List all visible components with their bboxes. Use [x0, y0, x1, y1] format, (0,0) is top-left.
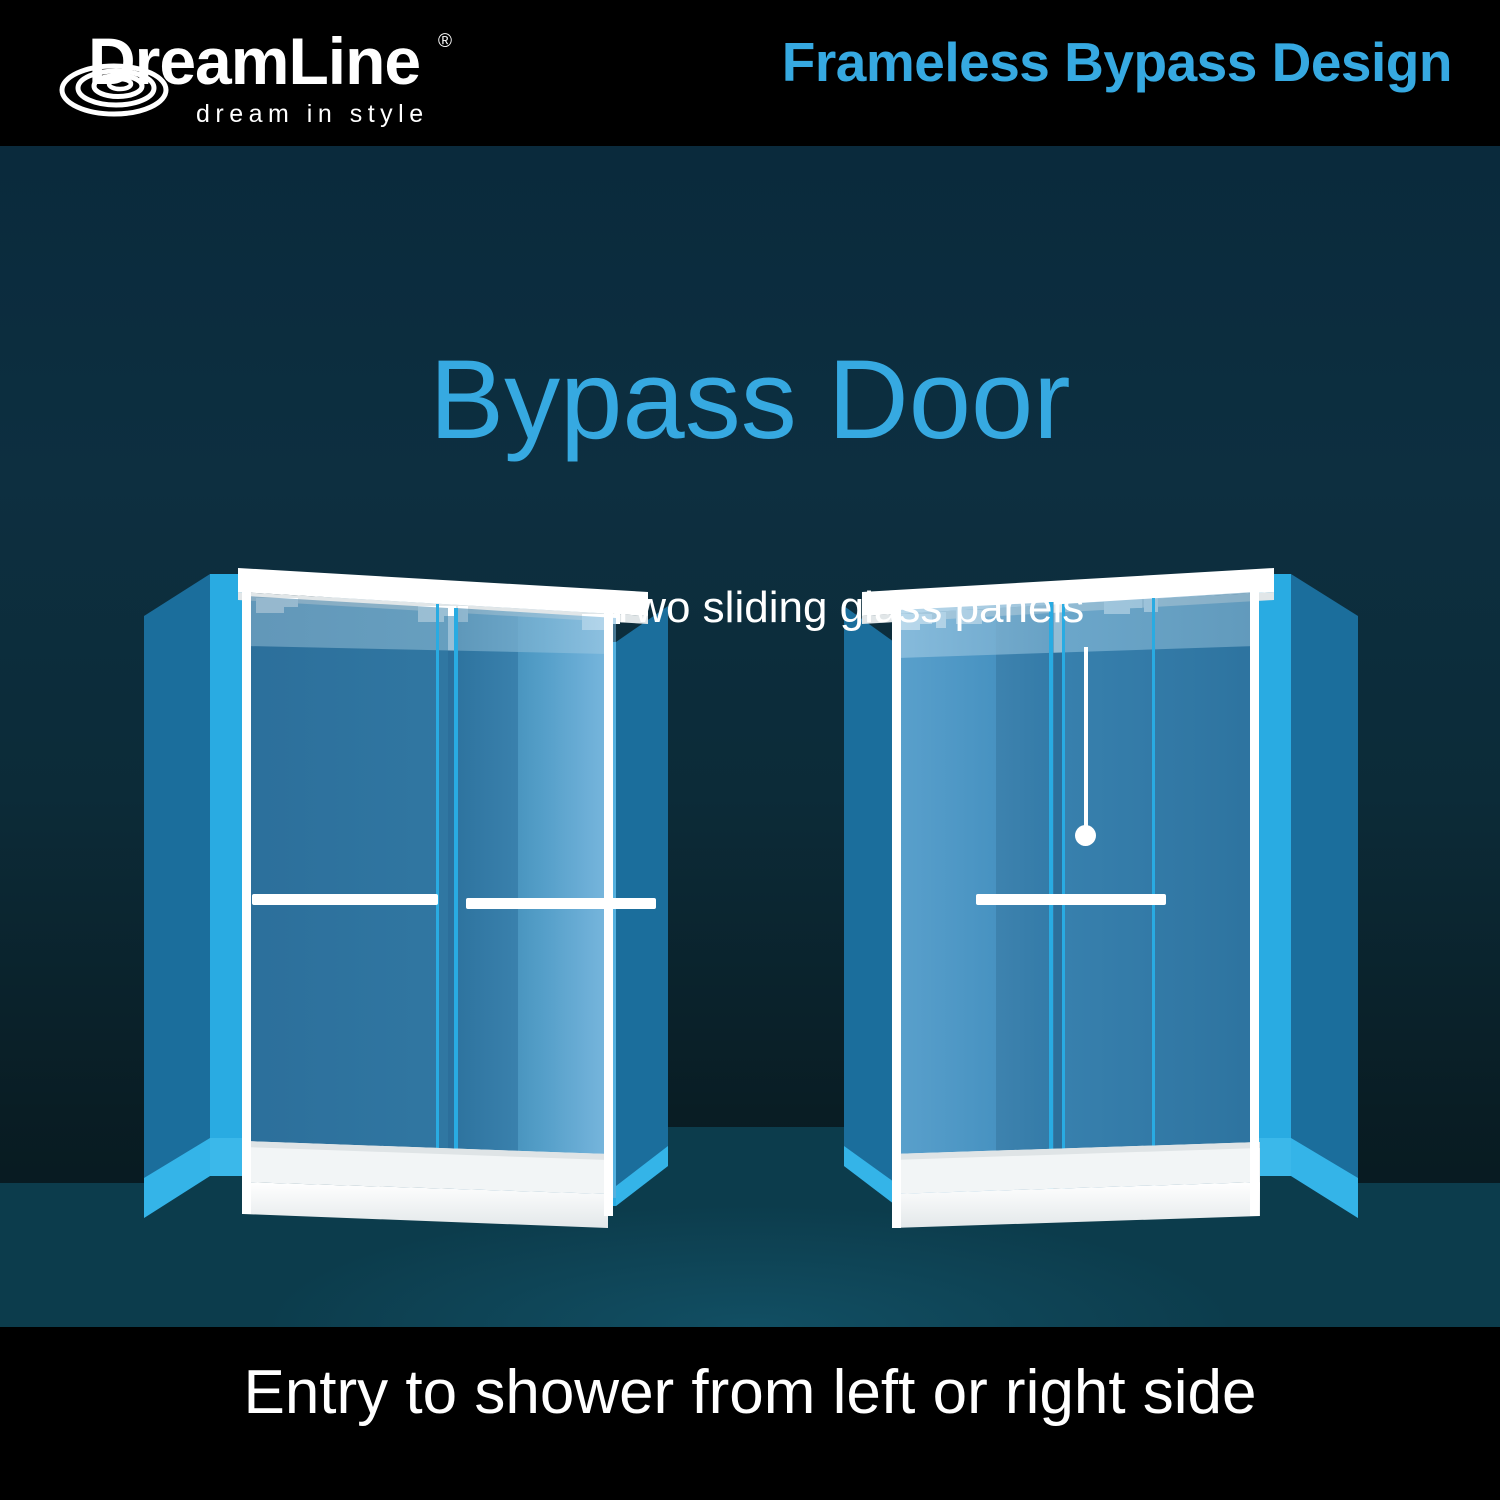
shower-enclosure-right [836, 546, 1366, 1266]
footer-caption: Entry to shower from left or right side [0, 1357, 1500, 1428]
dreamline-logo: DreamLine ® dream in style [48, 14, 468, 132]
product-infographic: DreamLine ® dream in style Frameless Byp… [0, 0, 1500, 1500]
brand-slogan: dream in style [196, 100, 429, 128]
illustration-stage: Bypass Door Two sliding glass panels [0, 146, 1500, 1327]
dreamline-logo-graphic: DreamLine ® dream in style [48, 14, 468, 132]
callout-leader-line [1084, 647, 1088, 837]
glass-panel-front [1062, 592, 1254, 1192]
footer-bar: Entry to shower from left or right side [0, 1327, 1500, 1500]
callout-label: Two sliding glass panels [0, 583, 1500, 633]
header-tagline: Frameless Bypass Design [782, 30, 1452, 94]
door-handle [976, 894, 1166, 905]
left-side-wall [144, 574, 243, 1218]
registered-trademark-icon: ® [438, 31, 452, 52]
shower-base [243, 1141, 608, 1228]
shower-base [892, 1142, 1260, 1228]
brand-name: DreamLine [88, 24, 420, 98]
callout-label-text: Two sliding glass panels [610, 583, 1084, 632]
door-handle-right [466, 898, 656, 909]
header-bar: DreamLine ® dream in style Frameless Byp… [0, 0, 1500, 146]
door-handle-left [252, 894, 438, 905]
right-side-wall [1256, 574, 1358, 1218]
glass-panel-front [246, 596, 448, 1186]
shower-enclosure-left [138, 546, 698, 1266]
page-title: Bypass Door [0, 344, 1500, 456]
callout-anchor-dot [1075, 825, 1096, 846]
